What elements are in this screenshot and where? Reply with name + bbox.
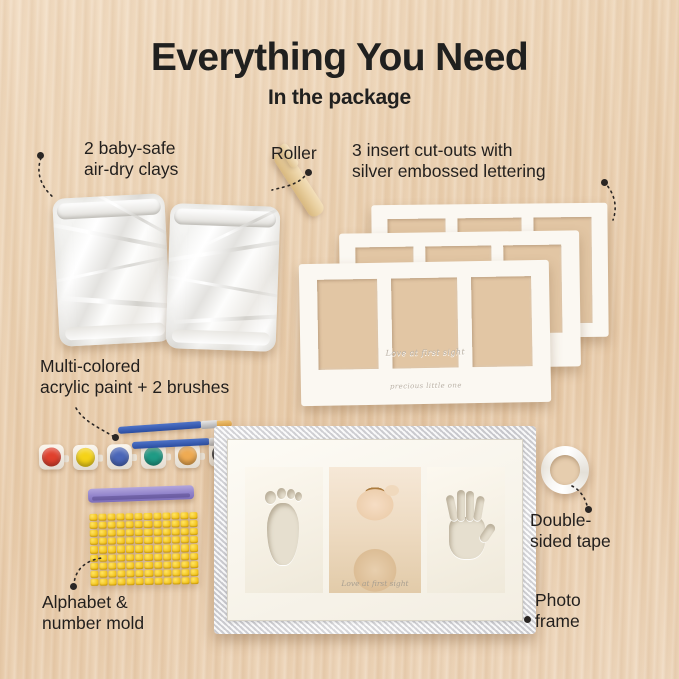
clay-packet-left bbox=[52, 193, 172, 347]
mold-cell bbox=[163, 553, 171, 560]
mold-cell bbox=[127, 562, 135, 569]
mold-cell bbox=[135, 554, 143, 561]
insert-embossed-text-3: precious little one bbox=[301, 380, 551, 392]
mold-cell bbox=[108, 513, 116, 520]
mold-cell bbox=[127, 570, 135, 577]
mold-cell bbox=[172, 537, 180, 544]
mold-cell bbox=[117, 546, 125, 553]
mold-cell bbox=[108, 522, 116, 529]
mold-cell bbox=[145, 553, 153, 560]
baby-photo-image bbox=[329, 467, 421, 593]
mold-cell bbox=[163, 545, 171, 552]
mold-cell bbox=[90, 538, 98, 545]
mold-cell bbox=[190, 528, 198, 535]
photo-frame-mat: Love at first sight bbox=[227, 439, 523, 621]
callout-label-tape: Double- sided tape bbox=[530, 510, 611, 552]
footprint-toe bbox=[277, 488, 286, 499]
leader-dot-clays bbox=[37, 152, 44, 159]
mold-cell bbox=[117, 521, 125, 528]
mold-cell bbox=[144, 529, 152, 536]
mold-cell bbox=[117, 562, 125, 569]
leader-dot-mold bbox=[70, 583, 77, 590]
mold-cell bbox=[126, 537, 134, 544]
mold-cell bbox=[144, 521, 152, 528]
mold-cell bbox=[118, 570, 126, 577]
mold-cell bbox=[126, 554, 134, 561]
mold-cell bbox=[171, 529, 179, 536]
mold-cell bbox=[153, 513, 161, 520]
mold-cell bbox=[136, 570, 144, 577]
mold-cell bbox=[181, 545, 189, 552]
mold-cell bbox=[163, 569, 171, 576]
mold-cell bbox=[163, 577, 171, 584]
mold-cell bbox=[190, 569, 198, 576]
footprint-cast-panel bbox=[245, 467, 323, 593]
mold-cell bbox=[89, 514, 97, 521]
footprint-toe bbox=[265, 491, 276, 504]
paint-pot-yellow bbox=[73, 445, 98, 470]
mold-cell bbox=[181, 553, 189, 560]
mold-cell bbox=[144, 537, 152, 544]
mold-cell bbox=[189, 520, 197, 527]
mold-cell bbox=[181, 569, 189, 576]
paint-pot-orange bbox=[175, 443, 200, 468]
callout-label-photo: Photo frame bbox=[535, 590, 581, 632]
mold-cell bbox=[162, 537, 170, 544]
mold-cell bbox=[190, 561, 198, 568]
mold-cell bbox=[126, 521, 134, 528]
leader-dot-roller bbox=[305, 169, 312, 176]
mold-cell bbox=[145, 578, 153, 585]
mold-cell bbox=[108, 530, 116, 537]
footprint-toe bbox=[287, 489, 295, 499]
mold-cell bbox=[180, 528, 188, 535]
footprint-toe bbox=[295, 492, 302, 501]
callout-label-roller: Roller bbox=[271, 143, 317, 164]
mold-cell bbox=[190, 536, 198, 543]
callout-label-mold: Alphabet & number mold bbox=[42, 592, 144, 634]
mold-cell bbox=[153, 529, 161, 536]
mold-cell bbox=[108, 538, 116, 545]
leader-line-paint bbox=[70, 404, 122, 448]
mold-cell bbox=[136, 578, 144, 585]
mold-cell bbox=[162, 529, 170, 536]
mold-cell bbox=[117, 538, 125, 545]
leader-dot-paint bbox=[112, 434, 119, 441]
mold-cell bbox=[172, 577, 180, 584]
mold-cell bbox=[90, 522, 98, 529]
clay-packet-right bbox=[166, 203, 281, 352]
frame-caption: Love at first sight bbox=[329, 579, 421, 588]
mold-cell bbox=[181, 577, 189, 584]
mold-cell bbox=[135, 521, 143, 528]
callout-label-inserts: 3 insert cut-outs with silver embossed l… bbox=[352, 140, 546, 182]
mold-cell bbox=[135, 545, 143, 552]
mold-cell bbox=[99, 538, 107, 545]
mold-cell bbox=[126, 513, 134, 520]
mold-cell bbox=[162, 521, 170, 528]
mold-cell bbox=[145, 562, 153, 569]
mold-cell bbox=[172, 569, 180, 576]
page-subtitle: In the package bbox=[0, 86, 679, 110]
mold-cell bbox=[154, 545, 162, 552]
mold-cell bbox=[181, 537, 189, 544]
clay-creases bbox=[166, 203, 281, 352]
purple-mold-strip bbox=[88, 485, 194, 503]
mold-cell bbox=[154, 553, 162, 560]
mold-cell bbox=[127, 578, 135, 585]
mold-cell bbox=[171, 520, 179, 527]
infographic-canvas: Everything You Need In the package Bundl… bbox=[0, 0, 679, 679]
mold-cell bbox=[126, 546, 134, 553]
mold-cell bbox=[99, 522, 107, 529]
mold-cell bbox=[190, 553, 198, 560]
mold-cell bbox=[154, 561, 162, 568]
mold-cell bbox=[180, 512, 188, 519]
mold-cell bbox=[135, 529, 143, 536]
mold-cell bbox=[145, 570, 153, 577]
mold-cell bbox=[144, 545, 152, 552]
mold-cell bbox=[117, 554, 125, 561]
mold-cell bbox=[144, 513, 152, 520]
photo-frame: Love at first sight bbox=[214, 426, 536, 634]
mold-cell bbox=[171, 512, 179, 519]
mold-cell bbox=[99, 530, 107, 537]
mold-cell bbox=[90, 530, 98, 537]
mold-cell bbox=[117, 530, 125, 537]
footprint-sole bbox=[267, 503, 299, 565]
handprint-finger bbox=[473, 495, 485, 521]
handprint-finger bbox=[457, 490, 465, 521]
mold-cell bbox=[135, 513, 143, 520]
mold-cell bbox=[153, 521, 161, 528]
mold-cell bbox=[180, 520, 188, 527]
mold-cell bbox=[162, 513, 170, 520]
mold-cell bbox=[153, 537, 161, 544]
mold-cell bbox=[98, 514, 106, 521]
paint-brush-upper bbox=[118, 421, 202, 434]
leader-dot-photo bbox=[524, 616, 531, 623]
leader-dot-inserts bbox=[601, 179, 608, 186]
mold-cell bbox=[154, 578, 162, 585]
mold-cell bbox=[163, 561, 171, 568]
leader-dot-tape bbox=[585, 506, 592, 513]
handprint-cast-panel bbox=[427, 467, 505, 593]
paint-pot-red bbox=[39, 444, 64, 469]
mold-cell bbox=[135, 537, 143, 544]
mold-cell bbox=[190, 544, 198, 551]
mold-cell bbox=[181, 561, 189, 568]
mold-cell bbox=[172, 545, 180, 552]
insert-cutout-front: Love at first sight precious little one bbox=[299, 260, 551, 406]
baby-photo-panel: Love at first sight bbox=[329, 467, 421, 593]
mold-cell bbox=[154, 569, 162, 576]
mold-cell bbox=[118, 578, 126, 585]
callout-label-paint: Multi-colored acrylic paint + 2 brushes bbox=[40, 356, 229, 398]
mold-cell bbox=[136, 562, 144, 569]
page-title: Everything You Need bbox=[0, 38, 679, 79]
mold-cell bbox=[190, 577, 198, 584]
mold-cell bbox=[117, 513, 125, 520]
clay-creases bbox=[52, 193, 172, 347]
mold-cell bbox=[126, 529, 134, 536]
mold-cell bbox=[172, 561, 180, 568]
baby-hair-bow bbox=[385, 485, 399, 496]
mold-cell bbox=[189, 512, 197, 519]
callout-label-clays: 2 baby-safe air-dry clays bbox=[84, 138, 178, 180]
mold-cell bbox=[172, 553, 180, 560]
